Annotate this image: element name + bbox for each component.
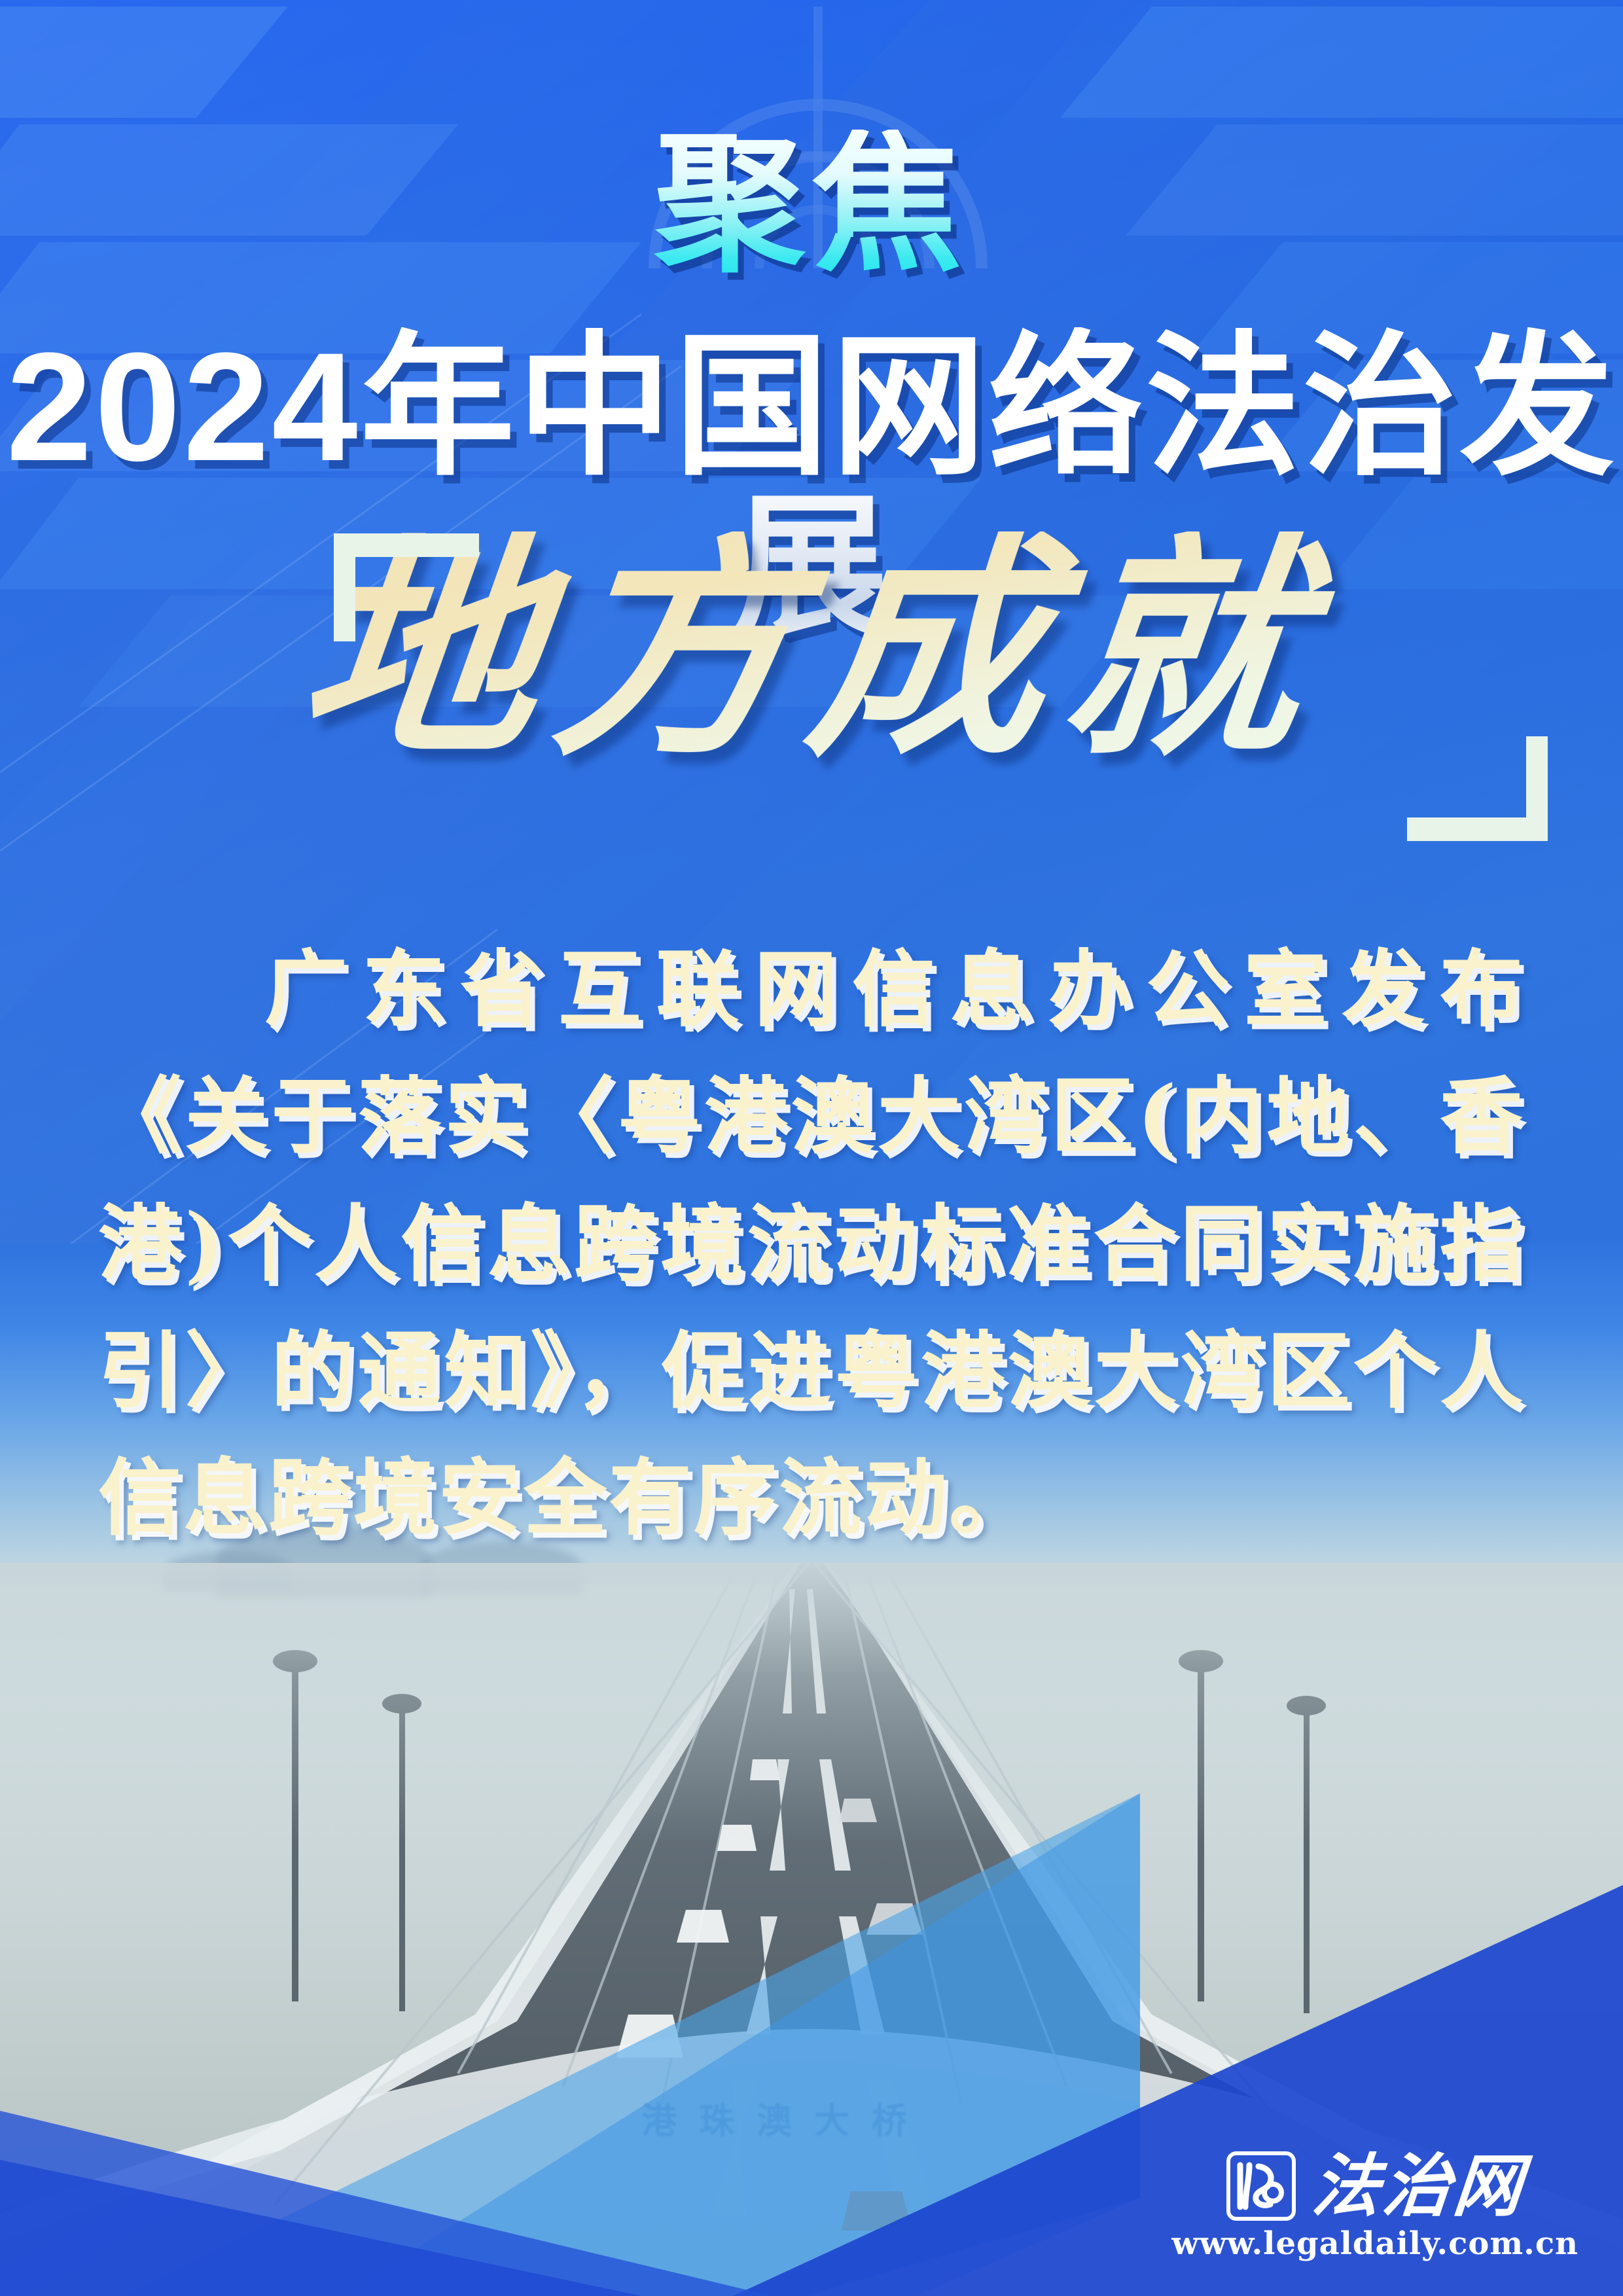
vehicle: [842, 2191, 912, 2231]
bridge-caption: 港珠澳大桥: [641, 2092, 929, 2144]
bracket-bottom-right: [1407, 736, 1548, 841]
logo-url[interactable]: www.legaldaily.com.cn: [1171, 2225, 1578, 2262]
kicker-label: 聚焦: [0, 130, 1623, 280]
calligraphy-title: 地方成就: [0, 531, 1623, 767]
body-copy: 广东省互联网信息办公室发布《关于落实〈粤港澳大湾区(内地、香港)个人信息跨境流动…: [98, 926, 1525, 1562]
logo-name: 法治网: [1310, 2152, 1527, 2220]
body-paragraph: 广东省互联网信息办公室发布《关于落实〈粤港澳大湾区(内地、香港)个人信息跨境流动…: [98, 926, 1525, 1562]
site-logo[interactable]: 法治网 www.legaldaily.com.cn: [1171, 2151, 1578, 2262]
calligraphy-title-block: 地方成就: [0, 497, 1623, 864]
legal-daily-seal-icon: [1226, 2151, 1296, 2221]
logo-row: 法治网: [1226, 2151, 1524, 2221]
poster-root: 港珠澳大桥 聚焦 2024年中国网络法治发展 地方成就 广东省互联网信息办公室发…: [0, 0, 1623, 2296]
bracket-top-left: [334, 533, 479, 641]
